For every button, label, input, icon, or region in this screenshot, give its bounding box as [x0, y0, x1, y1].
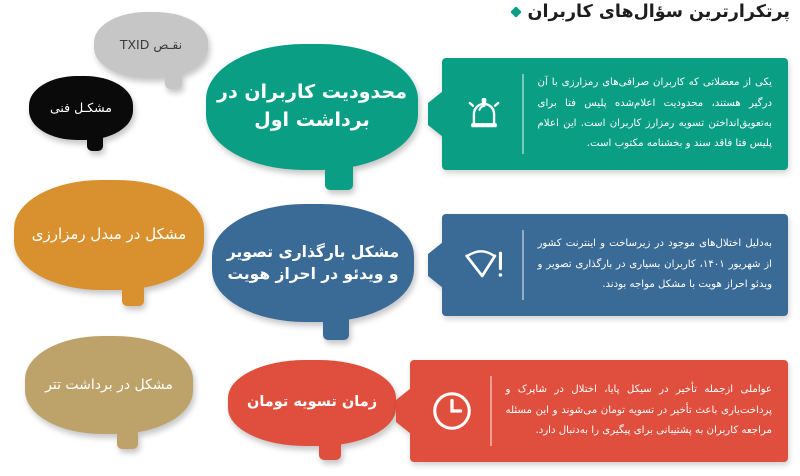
- bubble-technical-issue-label: مشکـل فنی: [40, 99, 122, 117]
- wifi-alert-icon: [452, 244, 516, 286]
- bubble-first-withdrawal-limit-label: محدودیت کاربران در برداشت اول: [206, 79, 418, 134]
- alarm-panel-body: یکی از معضلاتی که کاربران صرافی‌های رمزا…: [534, 73, 773, 155]
- bubble-crypto-converter[interactable]: مشکل در مبدل رمزارزی: [14, 180, 204, 290]
- bubble-tail: [325, 158, 353, 190]
- infographic-canvas: پرتکرارترین سؤال‌های کاربران نقـص TXID م…: [0, 0, 800, 476]
- wifi-panel: به‌دلیل اختلال‌های موجود در زیرساخت و ای…: [442, 214, 788, 316]
- wifi-panel-body: به‌دلیل اختلال‌های موجود در زیرساخت و ای…: [534, 234, 773, 295]
- alarm-siren-icon: [452, 92, 516, 136]
- bubble-kyc-upload-label: مشکل بارگذاری تصویر و ویدئو در احراز هوی…: [212, 241, 414, 286]
- bubble-technical-issue[interactable]: مشکـل فنی: [29, 76, 133, 140]
- clock-panel-body: عواملی ازجمله تأخیر در سیکل پایا، اختلال…: [502, 380, 773, 441]
- bubble-kyc-upload[interactable]: مشکل بارگذاری تصویر و ویدئو در احراز هوی…: [212, 204, 414, 322]
- bubble-toman-settlement-time-label: زمان تسویه تومان: [237, 392, 387, 413]
- panel-notch: [396, 388, 411, 434]
- bubble-tail: [87, 131, 103, 151]
- bubble-tail: [122, 280, 144, 306]
- diamond-bullet-icon: [510, 6, 521, 17]
- bubble-toman-settlement-time[interactable]: زمان تسویه تومان: [228, 360, 396, 446]
- bubble-tether-withdrawal-label: مشکل در برداشت تتر: [35, 375, 183, 395]
- bubble-tail: [165, 69, 182, 89]
- bubble-tail: [323, 312, 349, 340]
- panel-divider: [522, 230, 524, 300]
- panel-divider: [522, 74, 524, 154]
- bubble-crypto-converter-label: مشکل در مبدل رمزارزی: [22, 224, 197, 246]
- page-title: پرتکرارترین سؤال‌های کاربران: [512, 2, 790, 22]
- clock-panel: عواملی ازجمله تأخیر در سیکل پایا، اختلال…: [410, 360, 788, 462]
- bubble-tether-withdrawal[interactable]: مشکل در برداشت تتر: [25, 336, 193, 434]
- panel-divider: [490, 376, 492, 446]
- bubble-txid-label: نقـص TXID: [110, 36, 192, 54]
- page-title-text: پرتکرارترین سؤال‌های کاربران: [528, 2, 790, 22]
- bubble-first-withdrawal-limit[interactable]: محدودیت کاربران در برداشت اول: [206, 44, 418, 170]
- panel-notch: [428, 91, 443, 137]
- bubble-tail: [319, 436, 341, 460]
- alarm-panel: یکی از معضلاتی که کاربران صرافی‌های رمزا…: [442, 58, 788, 170]
- clock-icon: [420, 388, 484, 434]
- panel-notch: [428, 242, 443, 288]
- bubble-tail: [117, 424, 138, 449]
- bubble-txid[interactable]: نقـص TXID: [94, 12, 208, 78]
